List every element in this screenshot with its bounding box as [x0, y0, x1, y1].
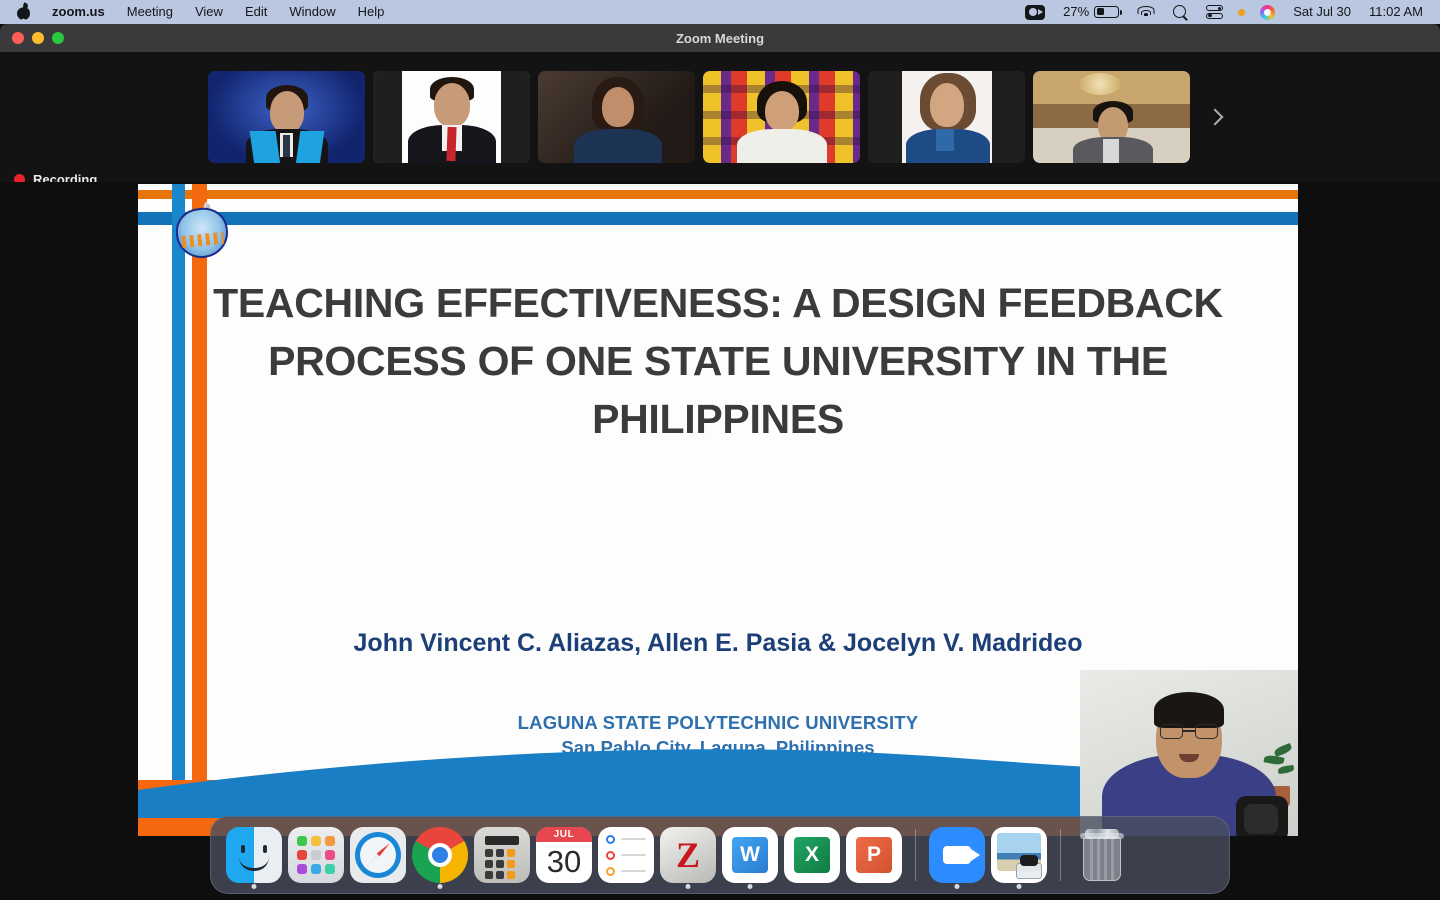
participant-thumbnail-3[interactable]	[538, 71, 695, 163]
excel-glyph: X	[794, 837, 830, 873]
presentation-slide[interactable]: TEACHING EFFECTIVENESS: A DESIGN FEEDBAC…	[138, 184, 1298, 836]
battery-status[interactable]: 27%	[1054, 0, 1128, 24]
minimize-button[interactable]	[32, 32, 44, 44]
calendar-icon: JUL 30	[536, 827, 592, 883]
self-view-video[interactable]	[1080, 670, 1298, 836]
menu-date[interactable]: Sat Jul 30	[1284, 0, 1360, 24]
zotero-icon: Z	[660, 827, 716, 883]
shared-screen-stage: TEACHING EFFECTIVENESS: A DESIGN FEEDBAC…	[0, 182, 1440, 816]
menu-item-help[interactable]: Help	[347, 0, 396, 24]
excel-icon: X	[784, 827, 840, 883]
menu-bar-status-area: 27% Sat Jul 30 11:02 AM	[1016, 0, 1432, 24]
maximize-button[interactable]	[52, 32, 64, 44]
dock-item-excel[interactable]: X	[781, 816, 843, 894]
menu-item-window[interactable]: Window	[278, 0, 346, 24]
chrome-icon	[412, 827, 468, 883]
dock: JUL 30 Z W X P	[210, 816, 1230, 894]
slide-top-blue-band	[138, 212, 1298, 225]
slide-title: TEACHING EFFECTIVENESS: A DESIGN FEEDBAC…	[208, 274, 1228, 449]
window-title: Zoom Meeting	[676, 31, 764, 46]
battery-percent-label: 27%	[1063, 0, 1089, 24]
word-glyph: W	[732, 837, 768, 873]
menu-item-view[interactable]: View	[184, 0, 234, 24]
calculator-icon	[474, 827, 530, 883]
launchpad-icon	[288, 827, 344, 883]
dock-item-launchpad[interactable]	[285, 816, 347, 894]
reminders-icon	[598, 827, 654, 883]
wifi-icon[interactable]	[1128, 5, 1164, 19]
safari-icon	[350, 827, 406, 883]
preview-icon	[991, 827, 1047, 883]
participant-thumbnail-6[interactable]	[1033, 71, 1190, 163]
dock-separator-1	[915, 829, 916, 881]
dock-item-zotero[interactable]: Z	[657, 816, 719, 894]
menu-bar: zoom.us Meeting View Edit Window Help 27…	[0, 0, 1440, 24]
dock-item-zoom[interactable]	[926, 816, 988, 894]
close-button[interactable]	[12, 32, 24, 44]
dock-item-finder[interactable]	[223, 816, 285, 894]
participant-thumbnail-1[interactable]	[208, 71, 365, 163]
participant-filmstrip	[0, 52, 1440, 182]
battery-icon	[1094, 6, 1119, 18]
slide-top-orange-band	[138, 190, 1298, 199]
siri-icon[interactable]	[1251, 5, 1284, 20]
university-seal-icon	[166, 200, 238, 264]
orange-dot-icon	[1238, 9, 1245, 16]
control-center-icon[interactable]	[1197, 5, 1232, 20]
dock-separator-2	[1060, 829, 1061, 881]
spotlight-search-icon[interactable]	[1164, 5, 1197, 20]
dock-item-chrome[interactable]	[409, 816, 471, 894]
dock-item-safari[interactable]	[347, 816, 409, 894]
dock-item-preview[interactable]	[988, 816, 1050, 894]
calendar-day-label: 30	[536, 841, 592, 883]
slide-authors: John Vincent C. Aliazas, Allen E. Pasia …	[208, 626, 1228, 661]
menu-item-meeting[interactable]: Meeting	[116, 0, 184, 24]
powerpoint-glyph: P	[856, 837, 892, 873]
menu-app-name[interactable]: zoom.us	[41, 0, 116, 24]
powerpoint-icon: P	[846, 827, 902, 883]
dock-item-calculator[interactable]	[471, 816, 533, 894]
traffic-lights	[12, 24, 64, 52]
menu-time[interactable]: 11:02 AM	[1360, 0, 1432, 24]
dock-item-reminders[interactable]	[595, 816, 657, 894]
trash-icon	[1074, 827, 1130, 883]
chevron-right-icon	[1207, 109, 1224, 126]
participant-thumbnail-5[interactable]	[868, 71, 1025, 163]
menu-item-edit[interactable]: Edit	[234, 0, 278, 24]
dock-item-word[interactable]: W	[719, 816, 781, 894]
menu-bar-left: zoom.us Meeting View Edit Window Help	[8, 0, 395, 24]
zoom-meeting-window: Zoom Meeting	[0, 24, 1440, 816]
participant-thumbnail-2[interactable]	[373, 71, 530, 163]
word-icon: W	[722, 827, 778, 883]
dock-item-powerpoint[interactable]: P	[843, 816, 905, 894]
zoom-icon	[929, 827, 985, 883]
zoom-camera-icon[interactable]	[1016, 5, 1054, 20]
finder-icon	[226, 827, 282, 883]
calendar-month-label: JUL	[536, 827, 592, 842]
window-title-bar[interactable]: Zoom Meeting	[0, 24, 1440, 52]
participant-thumbnail-4[interactable]	[703, 71, 860, 163]
dock-item-trash[interactable]	[1071, 816, 1133, 894]
dock-item-calendar[interactable]: JUL 30	[533, 816, 595, 894]
apple-logo-icon[interactable]	[16, 3, 31, 21]
filmstrip-next-button[interactable]	[1198, 71, 1232, 163]
